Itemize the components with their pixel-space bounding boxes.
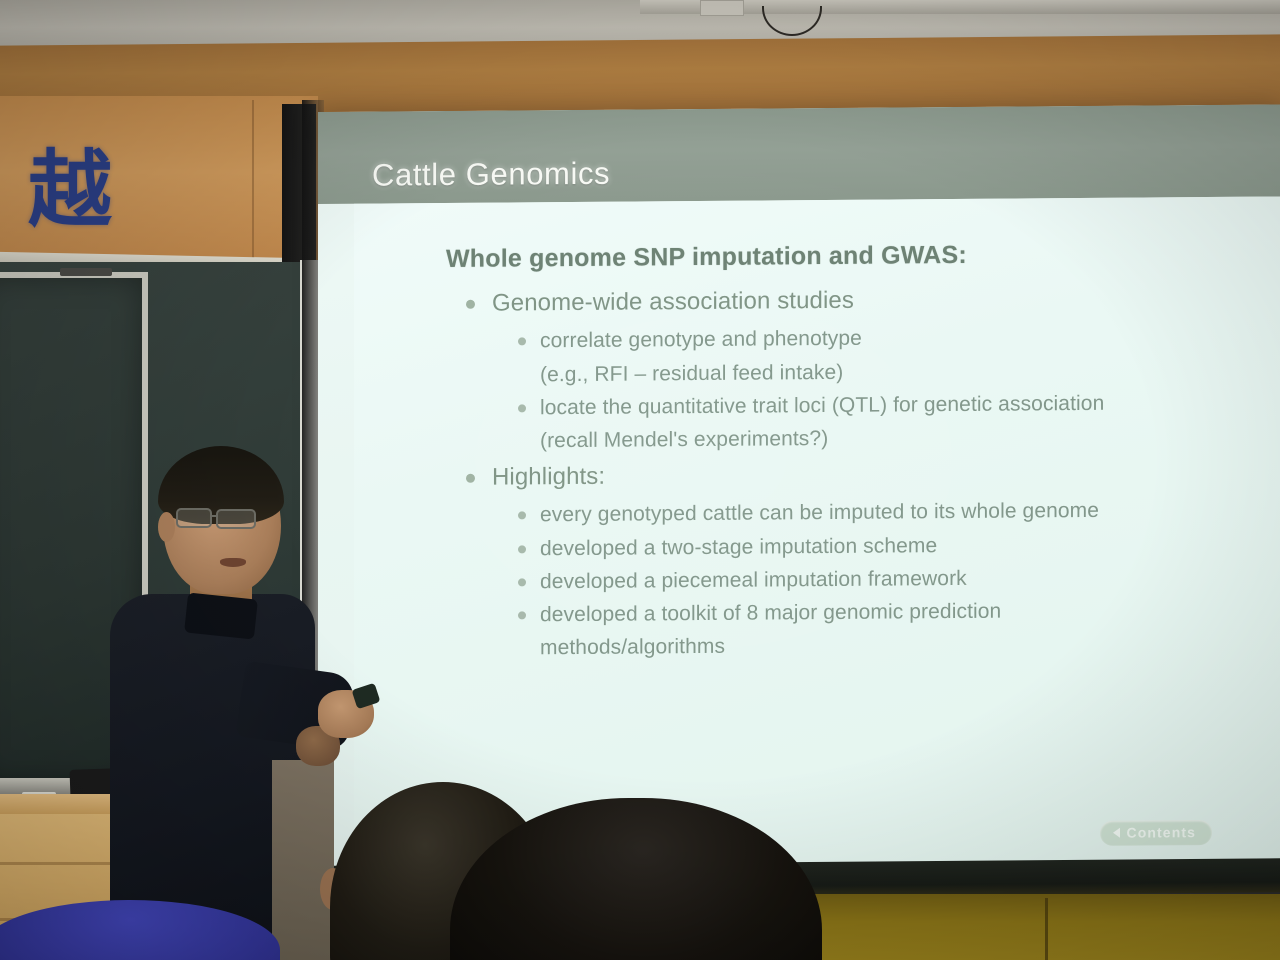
paper-cup-pattern — [139, 740, 191, 798]
bullet-list-level1: Genome-wide association studies correlat… — [378, 278, 1256, 666]
sub-bullet-line: developed a toolkit of 8 major genomic p… — [540, 593, 1256, 632]
sub-bullet-item: locate the quantitative trait loci (QTL)… — [514, 385, 1256, 457]
triangle-left-icon — [1113, 828, 1120, 838]
sub-bullet-item: correlate genotype and phenotype (e.g., … — [514, 319, 1256, 391]
slide-lead-heading: Whole genome SNP imputation and GWAS: — [446, 239, 1256, 274]
sub-bullet-line: correlate genotype and phenotype — [540, 319, 1256, 358]
slide-title: Cattle Genomics — [372, 156, 610, 194]
ceiling-mount-box — [700, 0, 744, 16]
contents-button-label: Contents — [1127, 824, 1196, 841]
chalkboard — [0, 272, 148, 787]
sub-bullet-line: (recall Mendel's experiments?) — [540, 419, 1256, 458]
small-green-object — [185, 775, 207, 797]
podium-green-sticker — [235, 830, 269, 854]
sub-bullet-line: locate the quantitative trait loci (QTL)… — [540, 385, 1256, 424]
sub-bullet-line: every genotyped cattle can be imputed to… — [540, 493, 1256, 532]
slide-body: Whole genome SNP imputation and GWAS: Ge… — [354, 196, 1280, 873]
bullet-text: Highlights: — [492, 452, 1256, 497]
bullet-item: Highlights: every genotyped cattle can b… — [462, 452, 1256, 665]
sub-bullet-line: developed a two-stage imputation scheme — [540, 526, 1256, 565]
bullet-list-level2: correlate genotype and phenotype (e.g., … — [492, 319, 1256, 458]
sub-bullet-line: developed a piecemeal imputation framewo… — [540, 559, 1256, 598]
wall-chinese-character: 越 — [28, 148, 112, 232]
bullet-item: Genome-wide association studies correlat… — [462, 278, 1256, 458]
podium-panel-line — [0, 862, 302, 865]
lecture-hall-photo: 越 Cattle Genomics Whole genome SNP imput… — [0, 0, 1280, 960]
projection-screen: Cattle Genomics Whole genome SNP imputat… — [318, 104, 1280, 874]
wall-panel-seam — [252, 100, 254, 260]
sub-bullet-item: developed a toolkit of 8 major genomic p… — [514, 593, 1256, 665]
sub-bullet-line: (e.g., RFI – residual feed intake) — [540, 352, 1256, 391]
board-clip — [60, 268, 112, 276]
sub-bullet-line: methods/algorithms — [540, 626, 1256, 665]
paper-cup-rim — [137, 738, 193, 745]
lower-wall-seam — [1045, 898, 1048, 960]
slide: Cattle Genomics Whole genome SNP imputat… — [318, 104, 1280, 874]
bullet-text: Genome-wide association studies — [492, 278, 1256, 323]
contents-button[interactable]: Contents — [1100, 820, 1212, 846]
bullet-list-level2: every genotyped cattle can be imputed to… — [492, 493, 1256, 665]
